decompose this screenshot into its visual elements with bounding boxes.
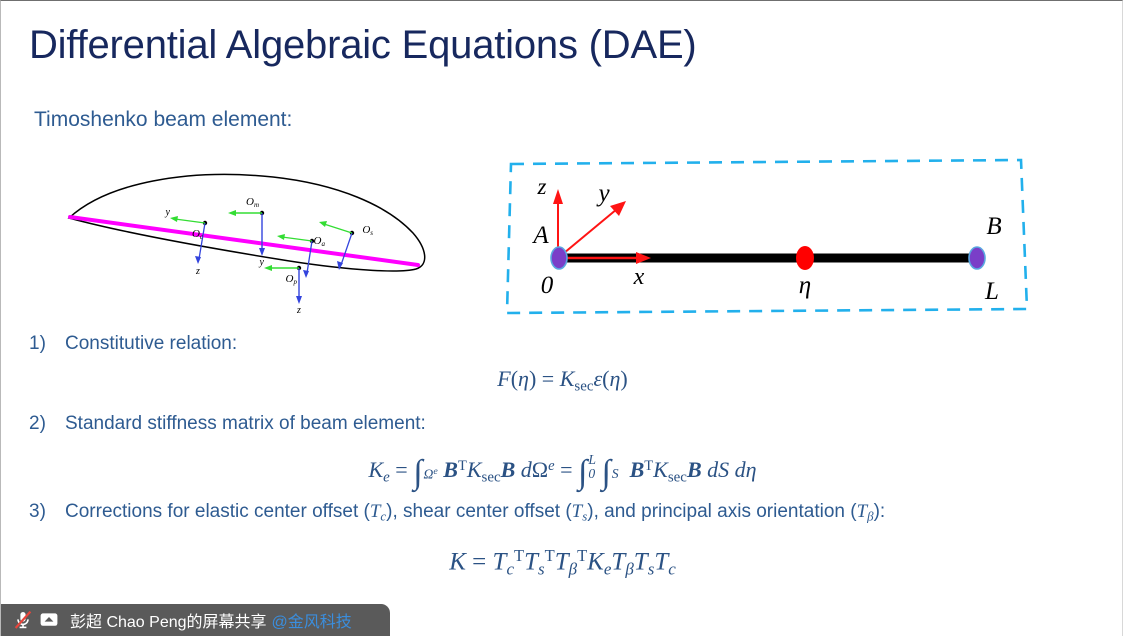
eq1-sec: sec — [574, 378, 593, 394]
zoom-share-status-bar[interactable]: 彭超 Chao Peng的屏幕共享 @金风科技 — [1, 604, 390, 636]
label-node-eta: η — [799, 272, 811, 299]
eq2-dS: dS — [707, 457, 729, 482]
eq1-paren-close: ) — [529, 366, 536, 391]
eq3-Tc: T — [654, 548, 668, 575]
label-z-oc: z — [195, 266, 200, 277]
eq3-Tb-T-sub: β — [569, 559, 577, 578]
eq3-K: K — [449, 548, 466, 575]
label-oc: Oc — [192, 228, 204, 241]
airfoil-cross-section-figure: Om Oc y z Oa — [37, 161, 447, 321]
eq1-eta1: η — [518, 366, 529, 391]
eq2-integral-2-limits: L0 — [588, 453, 596, 481]
beam-svg: A 0 B L η x y z — [499, 151, 1039, 319]
equation-3-content: K = TcTTsTTβTKeTβTsTc — [449, 546, 676, 579]
bullet-text-1: Constitutive relation: — [65, 333, 237, 354]
label-z-op: z — [296, 305, 301, 316]
eq3-Tc-T-sup: T — [514, 546, 524, 565]
eq1-K: K — [560, 366, 575, 391]
eq3-Tb-T: T — [555, 548, 569, 575]
eq3-Ts: T — [634, 548, 648, 575]
point-mass-center: Om — [228, 196, 265, 256]
eq2-integral-1-limits: Ωe — [424, 467, 438, 481]
screen-share-icon[interactable] — [36, 607, 62, 633]
eq2-integral-3-limits: S — [612, 467, 619, 481]
eq2-d-1: d — [521, 457, 532, 482]
share-handle-text: @金风科技 — [272, 608, 352, 632]
bullet-number-3: 3) — [29, 501, 65, 523]
bullet-3-sym-tb: T — [857, 501, 868, 522]
bullet-item-2: 2)Standard stiffness matrix of beam elem… — [29, 413, 426, 435]
equation-transformed-stiffness: K = TcTTsTTβTKeTβTsTc — [1, 546, 1123, 579]
eq2-integral-2: ∫ — [578, 463, 587, 483]
eq3-Ke: K — [587, 548, 604, 575]
label-os: Os — [362, 224, 373, 237]
point-elastic-center: Oc y z — [165, 207, 208, 277]
eq2-B-2: B — [501, 457, 516, 482]
bullet-text-3-part2: ), shear center offset ( — [386, 501, 572, 522]
label-node-a: A — [531, 222, 549, 249]
label-node-b-coord: L — [984, 278, 999, 305]
label-node-b: B — [986, 213, 1001, 240]
label-op: Op — [286, 273, 298, 286]
label-y-op: y — [259, 257, 265, 268]
eq3-equals: = — [472, 548, 486, 575]
eq2-equals-2: = — [560, 457, 572, 482]
equation-2-content: Ke = ∫Ωe BTKsecB dΩe = ∫L0 ∫S BTKsecB dS… — [368, 453, 756, 487]
eq2-B-3: B — [630, 457, 645, 482]
bullet-3-sym-ts: T — [572, 501, 583, 522]
bullet-number-2: 2) — [29, 413, 65, 435]
bullet-item-3: 3)Corrections for elastic center offset … — [29, 501, 885, 525]
share-owner-text: 彭超 Chao Peng的屏幕共享 — [70, 608, 267, 632]
bullet-text-2: Standard stiffness matrix of beam elemen… — [65, 413, 426, 434]
beam-element-figure: A 0 B L η x y z — [499, 151, 1039, 319]
eq2-B-1: B — [443, 457, 458, 482]
eq1-eta2: η — [609, 366, 620, 391]
eq3-Tc-sub: c — [668, 559, 676, 578]
bullet-3-sym-tc: T — [370, 501, 381, 522]
microphone-muted-icon[interactable] — [10, 607, 36, 633]
presentation-slide: Differential Algebraic Equations (DAE) T… — [0, 0, 1123, 636]
bullet-text-3-part1: Corrections for elastic center offset ( — [65, 501, 370, 522]
label-axis-y: y — [595, 180, 610, 207]
label-axis-z: z — [537, 174, 547, 199]
eq3-Tb: T — [611, 548, 625, 575]
eq2-deta: dη — [735, 457, 757, 482]
bullet-item-1: 1)Constitutive relation: — [29, 333, 237, 355]
bullet-number-1: 1) — [29, 333, 65, 355]
axis-y-line — [558, 209, 617, 258]
eq3-Tb-sub: β — [625, 559, 633, 578]
eq1-paren-open: ( — [511, 366, 518, 391]
eq2-integral-1: ∫ — [413, 463, 422, 483]
eq2-integral-2-upper: L — [588, 453, 596, 467]
eq3-Tc-T: T — [493, 548, 507, 575]
eq3-Tb-T-sup: T — [577, 546, 587, 565]
eq2-Ksec-1: K — [467, 457, 482, 482]
equation-constitutive-relation: F(η) = Ksecε(η) — [1, 366, 1123, 395]
eq1-F: F — [497, 366, 510, 391]
point-aerodynamic-center: Oa — [277, 234, 326, 278]
eq3-Tc-T-sub: c — [506, 559, 514, 578]
eq1-epsilon: ε — [593, 366, 602, 391]
eq2-integral-2-lower: 0 — [588, 467, 596, 481]
node-eta — [796, 246, 814, 270]
eq2-integral-3-lower: S — [612, 467, 619, 481]
airfoil-svg: Om Oc y z Oa — [37, 161, 447, 321]
bullet-text-3-part3: ), and principal axis orientation ( — [587, 501, 856, 522]
eq2-sec-2: sec — [668, 470, 687, 486]
node-a — [551, 247, 567, 269]
eq2-K-sub: e — [383, 470, 390, 486]
equation-stiffness-matrix: Ke = ∫Ωe BTKsecB dΩe = ∫L0 ∫S BTKsecB dS… — [1, 453, 1123, 487]
label-om: Om — [246, 196, 259, 209]
eq2-equals-1: = — [395, 457, 407, 482]
eq2-Ksec-2: K — [653, 457, 668, 482]
eq1-equals: = — [542, 366, 554, 391]
eq2-K: K — [368, 457, 383, 482]
label-node-a-coord: 0 — [541, 272, 554, 299]
eq2-sec-1: sec — [482, 470, 501, 486]
eq2-B-1-sup: T — [458, 458, 467, 474]
eq2-B-3-sup: T — [644, 458, 653, 474]
label-y-oc: y — [165, 207, 171, 218]
subtitle: Timoshenko beam element: — [34, 108, 292, 132]
point-shear-center: Os — [319, 221, 373, 270]
point-pitch-axis: Op y z — [259, 257, 302, 316]
eq2-omega-sup: e — [548, 458, 554, 474]
eq2-integral-3: ∫ — [601, 463, 610, 483]
eq1-paren-close-2: ) — [620, 366, 627, 391]
axis-z-arrowhead — [553, 189, 563, 204]
eq3-Ts-T-sub: s — [538, 559, 545, 578]
eq3-Ts-T-sup: T — [545, 546, 555, 565]
page-title: Differential Algebraic Equations (DAE) — [29, 23, 697, 68]
label-oa: Oa — [314, 235, 326, 248]
label-axis-x: x — [633, 264, 645, 290]
bullet-text-3-part4: ): — [874, 501, 886, 522]
eq3-Ts-T: T — [524, 548, 538, 575]
node-b — [969, 247, 985, 269]
equation-1-content: F(η) = Ksecε(η) — [497, 366, 627, 395]
eq2-integral-1-lower: Ωe — [424, 467, 438, 481]
eq2-B-4: B — [687, 457, 702, 482]
eq2-omega: Ω — [532, 457, 548, 482]
